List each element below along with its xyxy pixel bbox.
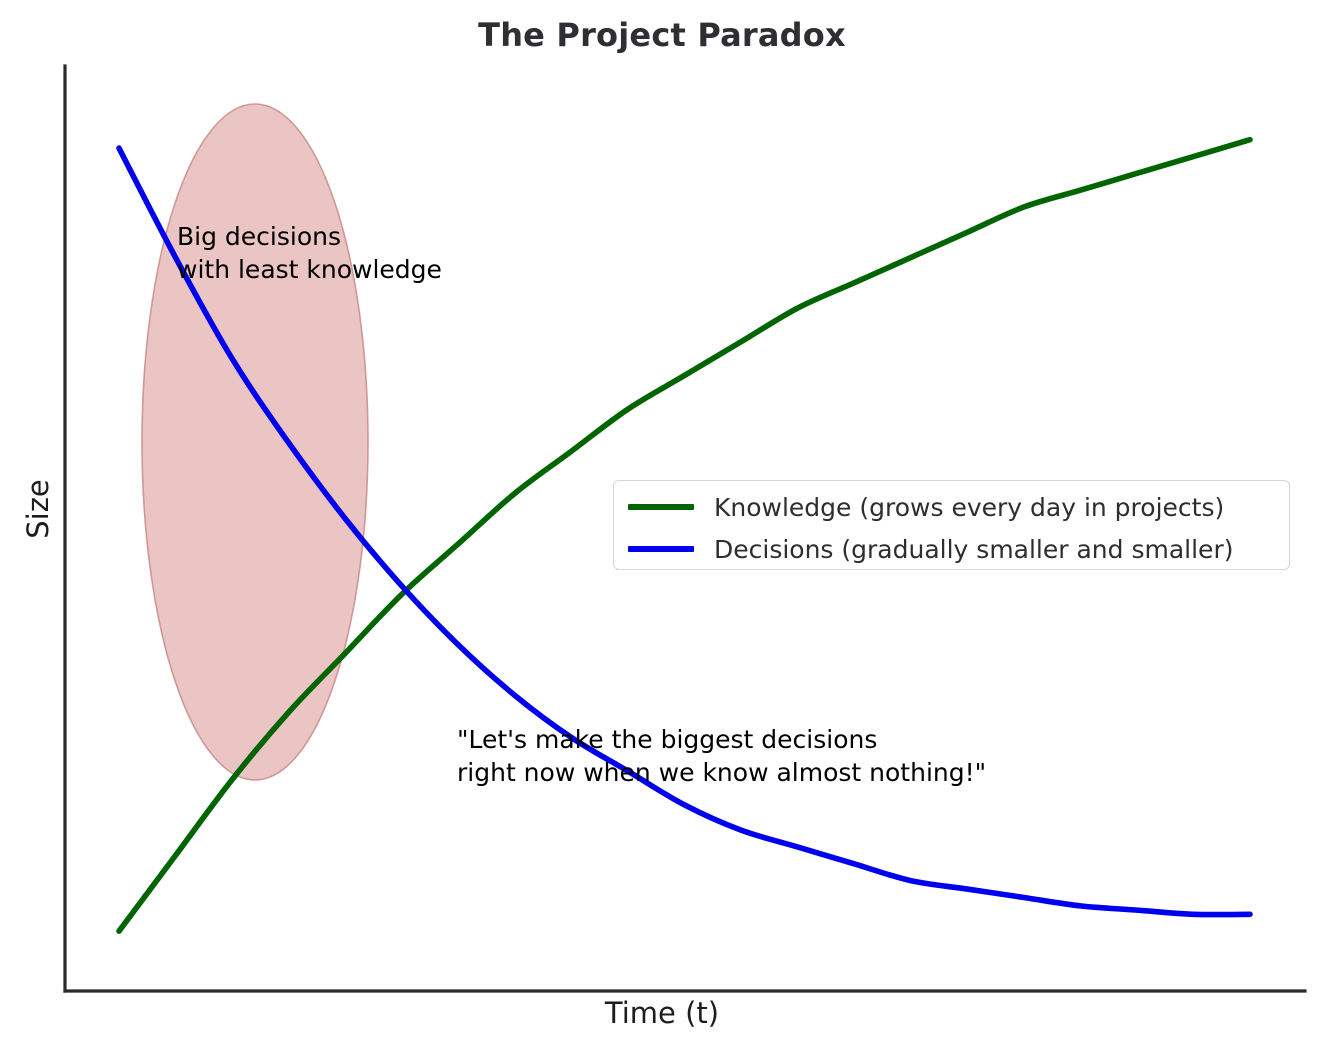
highlight-ellipse bbox=[142, 104, 368, 780]
legend-swatch-knowledge-icon bbox=[628, 504, 694, 510]
annotation-quote-line-1: "Let's make the biggest decisions bbox=[457, 725, 877, 754]
annotation-big-decisions: Big decisions with least knowledge bbox=[177, 220, 442, 286]
legend-swatch-decisions-icon bbox=[628, 546, 694, 552]
chart-legend: Knowledge (grows every day in projects) … bbox=[613, 480, 1290, 570]
annotation-line-1: Big decisions bbox=[177, 222, 341, 251]
legend-item-knowledge[interactable]: Knowledge (grows every day in projects) bbox=[628, 487, 1224, 527]
legend-label-knowledge: Knowledge (grows every day in projects) bbox=[714, 493, 1224, 522]
annotation-quote: "Let's make the biggest decisions right … bbox=[457, 723, 986, 789]
y-axis-label: Size bbox=[21, 449, 55, 569]
legend-label-decisions: Decisions (gradually smaller and smaller… bbox=[714, 535, 1233, 564]
annotation-line-2: with least knowledge bbox=[177, 255, 442, 284]
x-axis-label: Time (t) bbox=[0, 996, 1324, 1030]
annotation-quote-line-2: right now when we know almost nothing!" bbox=[457, 758, 986, 787]
chart-figure: The Project Paradox Size Time (t) Big de… bbox=[0, 0, 1324, 1054]
legend-item-decisions[interactable]: Decisions (gradually smaller and smaller… bbox=[628, 529, 1233, 569]
